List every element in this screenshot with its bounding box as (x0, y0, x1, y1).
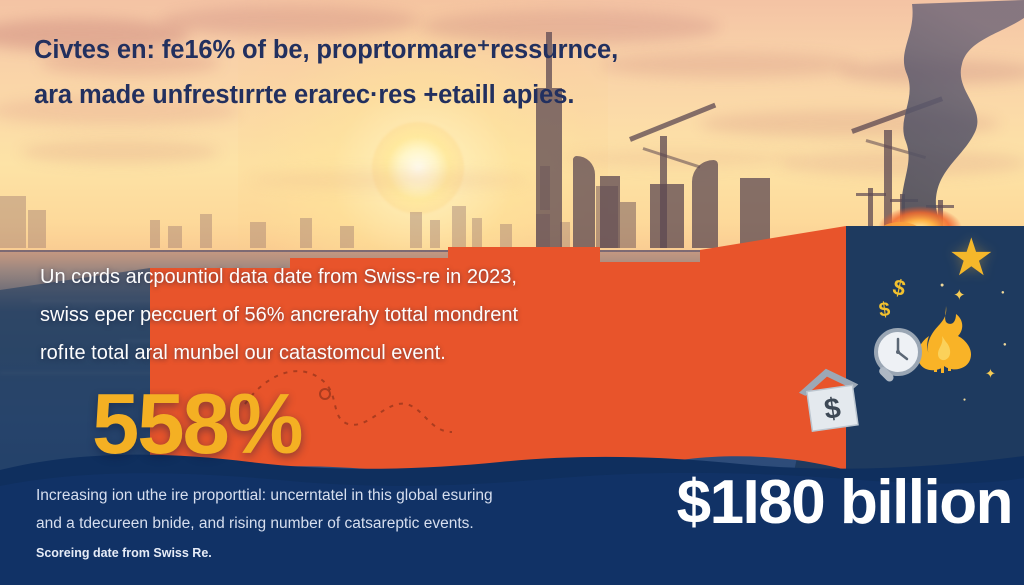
body-line: rofıte total aral munbel our catastomcul… (40, 334, 600, 372)
house-dollar-icon: $ (789, 357, 876, 439)
footer-line: Increasing ion uthe ire proporttial: unc… (36, 482, 616, 510)
sparkle-icon: ● (1001, 290, 1005, 296)
source-note: Scoreing date from Swiss Re. (36, 546, 212, 560)
sparkle-icon: ● (1003, 342, 1007, 348)
primary-statistic: 558% (92, 382, 301, 467)
page-title: Civtes en: fe16% of be, proprtormare⁺res… (34, 28, 694, 118)
star-icon: ★ (948, 232, 995, 284)
sparkle-icon: ● (963, 397, 966, 403)
footer-line: and a tdecureen bnide, and rising number… (36, 510, 616, 538)
body-paragraph: Un cords arcpountiol data date from Swis… (40, 258, 600, 372)
infographic-canvas: ★ $ $ ✦ ✦ ● ● ● ● $ Civtes en: fe16% of … (0, 0, 1024, 585)
sparkle-icon: ● (940, 282, 944, 289)
body-line: swiss eper peccuert of 56% ancrerahy tot… (40, 296, 600, 334)
magnifier-clock-icon (868, 326, 938, 396)
sparkle-icon: ✦ (985, 366, 996, 382)
secondary-statistic: $1I80 billion (677, 472, 1012, 534)
headline-line: ara made unfrestırrte erarec·res +etaill… (34, 73, 694, 118)
headline-line: Civtes en: fe16% of be, proprtormare⁺res… (34, 28, 694, 73)
footer-paragraph: Increasing ion uthe ire proporttial: unc… (36, 482, 616, 538)
body-line: Un cords arcpountiol data date from Swis… (40, 258, 600, 296)
